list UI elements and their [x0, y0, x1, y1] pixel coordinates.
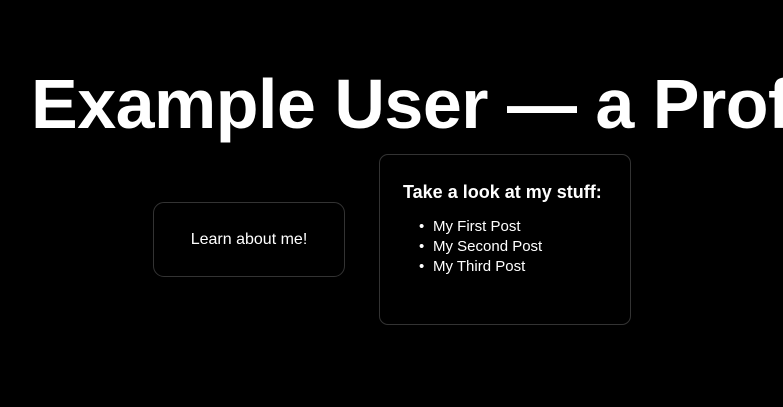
post-list: My First Post My Second Post My Third Po…: [403, 217, 608, 277]
page-title: Example User — a Profile: [31, 60, 752, 148]
card-heading: Take a look at my stuff:: [403, 181, 608, 203]
my-stuff-card: Take a look at my stuff: My First Post M…: [379, 154, 631, 325]
list-item[interactable]: My First Post: [433, 217, 608, 237]
list-item[interactable]: My Second Post: [433, 237, 608, 257]
learn-about-me-button[interactable]: Learn about me!: [153, 202, 345, 277]
list-item[interactable]: My Third Post: [433, 257, 608, 277]
content-row: Learn about me! Take a look at my stuff:…: [0, 154, 783, 334]
profile-page: Example User — a Profile Learn about me!…: [0, 0, 783, 407]
